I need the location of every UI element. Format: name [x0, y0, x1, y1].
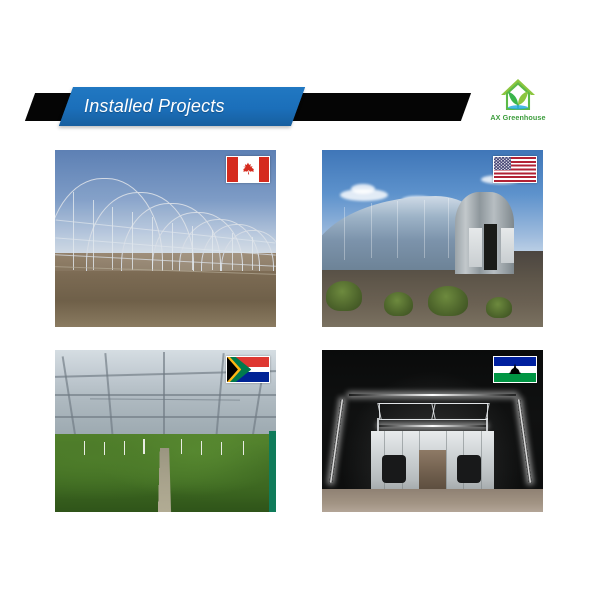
flag-usa-icon: [493, 156, 537, 183]
installed-projects-grid: [0, 0, 600, 600]
flag-south-africa-icon: [226, 356, 270, 383]
project-photo-card[interactable]: [55, 350, 276, 512]
flag-lesotho-icon: [493, 356, 537, 383]
project-photo-card[interactable]: [55, 150, 276, 327]
project-photo-card[interactable]: [322, 150, 543, 327]
project-photo-card[interactable]: [322, 350, 543, 512]
flag-canada-icon: [226, 156, 270, 183]
mokorotlo-hat-icon: [509, 363, 521, 376]
